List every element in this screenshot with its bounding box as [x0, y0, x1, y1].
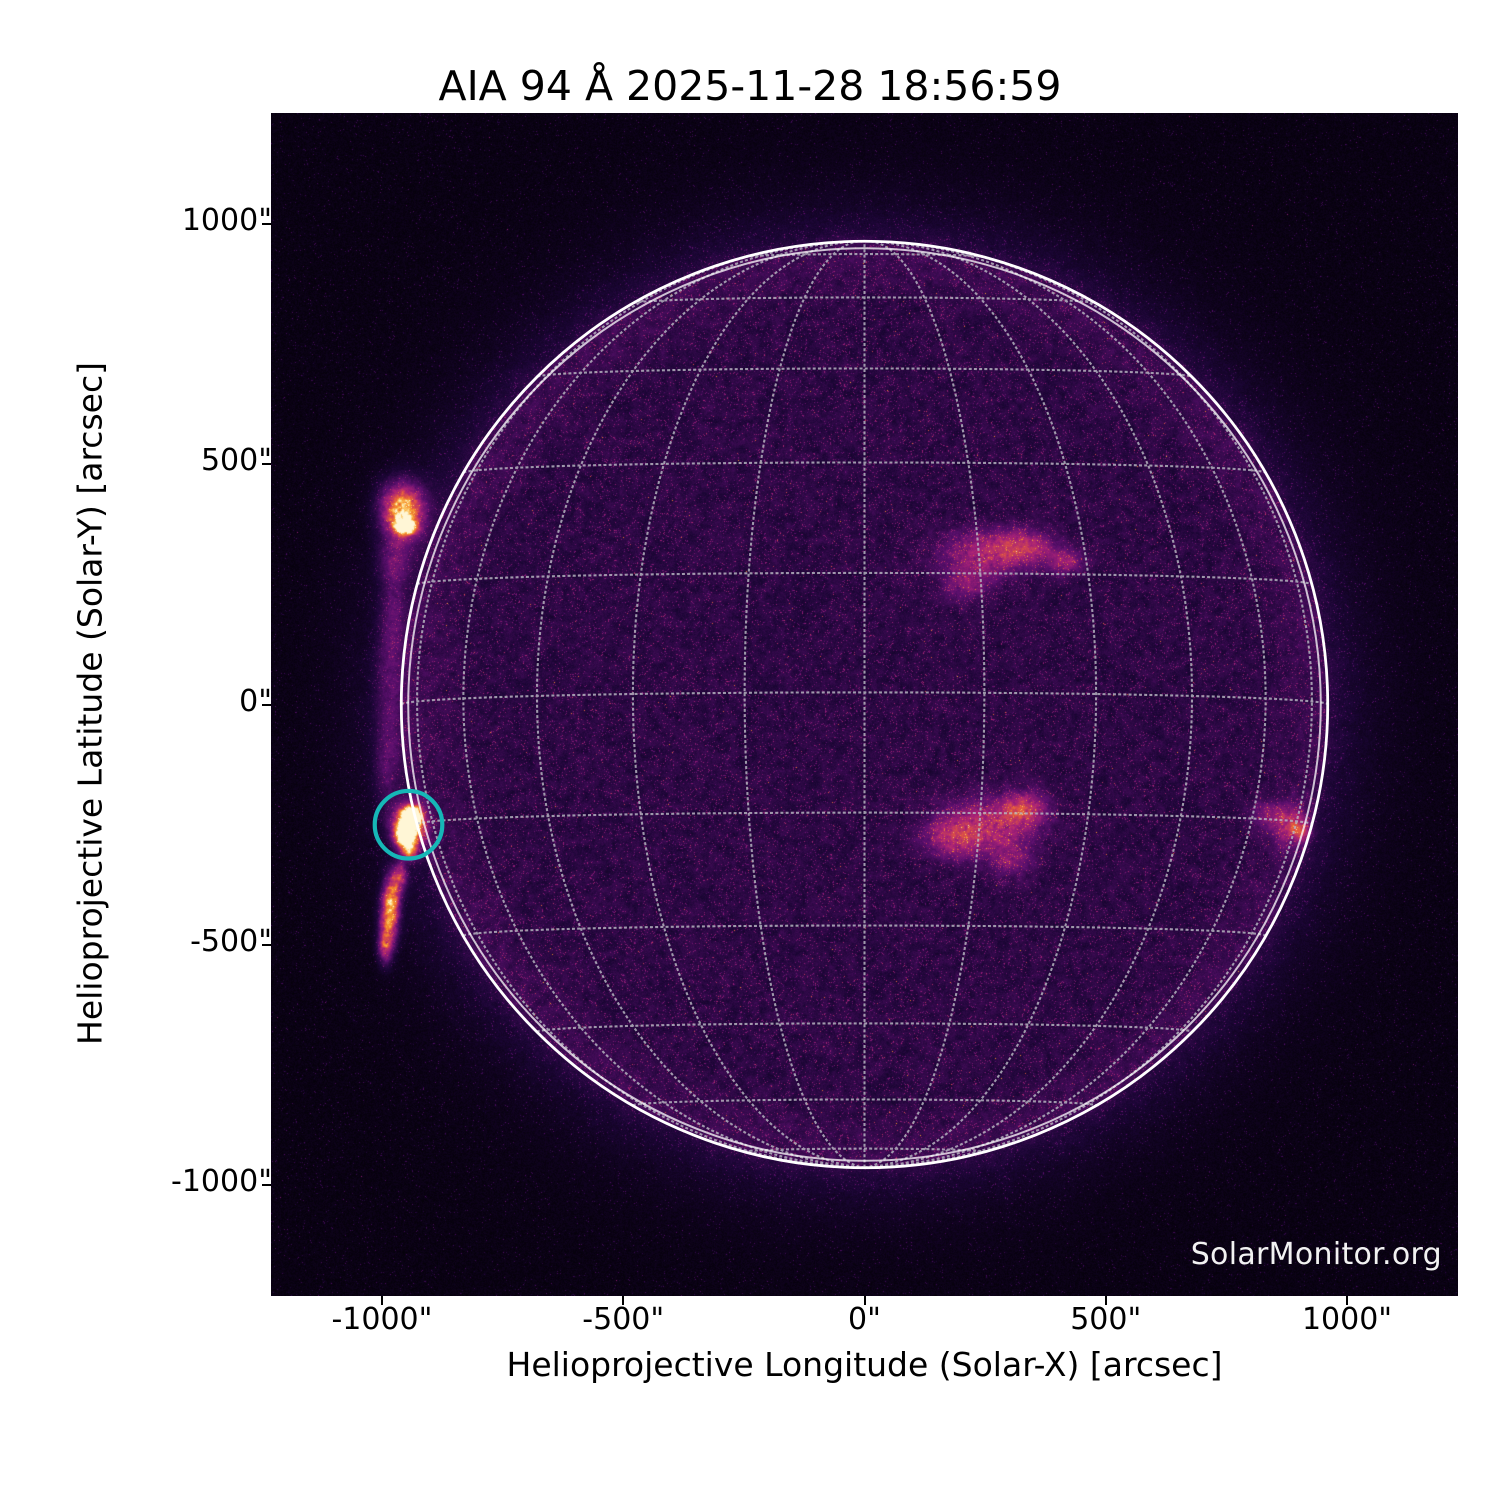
grid-line [865, 242, 1097, 1168]
x-tick-mark [381, 1296, 383, 1305]
y-tick-label: 500" [201, 443, 272, 478]
grid-line [745, 242, 865, 1168]
y-tick-mark [262, 944, 271, 946]
y-tick-label: 1000" [182, 203, 272, 238]
grid-line [633, 242, 865, 1168]
y-tick-mark [262, 463, 271, 465]
y-tick-label: -500" [190, 924, 272, 959]
x-tick-label: 0" [765, 1302, 965, 1337]
heliographic-grid [401, 241, 1327, 1167]
y-tick-label: 0" [239, 684, 272, 719]
x-axis-label: Helioprojective Longitude (Solar-X) [arc… [271, 1345, 1458, 1384]
x-tick-mark [1346, 1296, 1348, 1305]
grid-line [463, 242, 864, 1168]
y-tick-mark [262, 1184, 271, 1186]
x-tick-label: 500" [1006, 1302, 1206, 1337]
overlay-layer [271, 113, 1458, 1296]
x-tick-label: -500" [523, 1302, 723, 1337]
figure-title: AIA 94 Å 2025-11-28 18:56:59 [0, 62, 1500, 110]
x-tick-mark [1105, 1296, 1107, 1305]
active-region-marker [375, 791, 443, 859]
y-tick-label: -1000" [171, 1164, 272, 1199]
solarmonitor-watermark: SolarMonitor.org [1191, 1237, 1442, 1272]
solar-image-plot-area[interactable]: SolarMonitor.org [271, 113, 1458, 1296]
y-axis-label: Helioprojective Latitude (Solar-Y) [arcs… [71, 254, 110, 1154]
grid-line [865, 242, 985, 1168]
grid-line [865, 242, 1266, 1168]
y-tick-mark [262, 223, 271, 225]
grid-line [537, 242, 865, 1168]
solar-image-figure: AIA 94 Å 2025-11-28 18:56:59 SolarMonito… [0, 0, 1500, 1500]
grid-line [417, 244, 864, 1168]
x-tick-mark [622, 1296, 624, 1305]
grid-line [865, 242, 1193, 1168]
x-tick-label: -1000" [282, 1302, 482, 1337]
x-tick-label: 1000" [1247, 1302, 1447, 1337]
grid-line [865, 244, 1312, 1168]
x-tick-mark [864, 1296, 866, 1305]
active-region-marker[interactable] [375, 791, 443, 859]
y-tick-mark [262, 704, 271, 706]
